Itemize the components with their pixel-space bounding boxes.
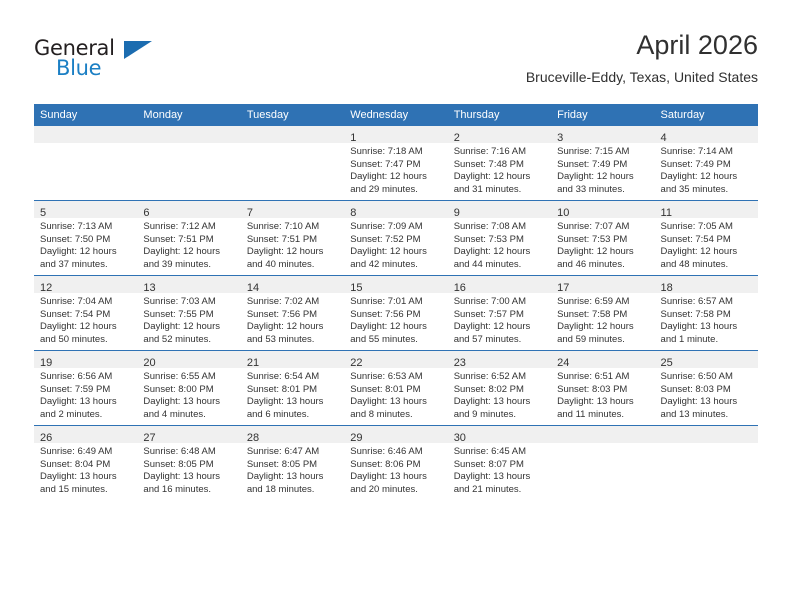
sunrise-text: Sunrise: 6:55 AM <box>143 371 235 384</box>
day-detail-block: Sunrise: 6:49 AMSunset: 8:04 PMDaylight:… <box>34 443 137 496</box>
day-number-band <box>551 426 654 443</box>
sunset-text: Sunset: 8:07 PM <box>454 459 546 472</box>
daylight-text-line2: and 48 minutes. <box>661 259 753 272</box>
day-number-band: 26 <box>34 426 137 443</box>
day-detail-block: Sunrise: 7:14 AMSunset: 7:49 PMDaylight:… <box>655 143 758 196</box>
calendar-day-cell[interactable]: 21Sunrise: 6:54 AMSunset: 8:01 PMDayligh… <box>241 351 344 426</box>
daylight-text-line2: and 33 minutes. <box>557 184 649 197</box>
weekday-header: SundayMondayTuesdayWednesdayThursdayFrid… <box>34 104 758 126</box>
daylight-text-line2: and 35 minutes. <box>661 184 753 197</box>
daylight-text-line1: Daylight: 12 hours <box>661 171 753 184</box>
daylight-text-line1: Daylight: 12 hours <box>350 321 442 334</box>
sunrise-text: Sunrise: 6:54 AM <box>247 371 339 384</box>
sunset-text: Sunset: 7:49 PM <box>661 159 753 172</box>
calendar-day-cell[interactable]: 3Sunrise: 7:15 AMSunset: 7:49 PMDaylight… <box>551 126 654 201</box>
calendar-day-cell[interactable]: 27Sunrise: 6:48 AMSunset: 8:05 PMDayligh… <box>137 426 240 501</box>
sunset-text: Sunset: 7:56 PM <box>350 309 442 322</box>
day-number: 8 <box>350 207 356 219</box>
sunrise-text: Sunrise: 7:15 AM <box>557 146 649 159</box>
daylight-text-line2: and 20 minutes. <box>350 484 442 497</box>
daylight-text-line2: and 8 minutes. <box>350 409 442 422</box>
day-number: 7 <box>247 207 253 219</box>
logo-triangle-icon <box>124 41 152 59</box>
daylight-text-line2: and 15 minutes. <box>40 484 132 497</box>
sunset-text: Sunset: 7:49 PM <box>557 159 649 172</box>
calendar-day-cell[interactable]: 28Sunrise: 6:47 AMSunset: 8:05 PMDayligh… <box>241 426 344 501</box>
day-number: 21 <box>247 357 259 369</box>
sunrise-text: Sunrise: 7:05 AM <box>661 221 753 234</box>
sunrise-text: Sunrise: 6:50 AM <box>661 371 753 384</box>
day-detail-block: Sunrise: 7:13 AMSunset: 7:50 PMDaylight:… <box>34 218 137 271</box>
day-number: 24 <box>557 357 569 369</box>
daylight-text-line2: and 29 minutes. <box>350 184 442 197</box>
calendar-day-cell[interactable]: 10Sunrise: 7:07 AMSunset: 7:53 PMDayligh… <box>551 201 654 276</box>
daylight-text-line1: Daylight: 12 hours <box>557 246 649 259</box>
sunrise-text: Sunrise: 6:56 AM <box>40 371 132 384</box>
day-number-band: 17 <box>551 276 654 293</box>
day-number: 10 <box>557 207 569 219</box>
daylight-text-line1: Daylight: 12 hours <box>454 246 546 259</box>
daylight-text-line1: Daylight: 13 hours <box>661 321 753 334</box>
day-number-band: 5 <box>34 201 137 218</box>
day-number-band: 6 <box>137 201 240 218</box>
sunset-text: Sunset: 8:06 PM <box>350 459 442 472</box>
day-number: 19 <box>40 357 52 369</box>
page-subtitle: Bruceville-Eddy, Texas, United States <box>526 66 758 88</box>
daylight-text-line2: and 18 minutes. <box>247 484 339 497</box>
sunrise-text: Sunrise: 6:48 AM <box>143 446 235 459</box>
sunset-text: Sunset: 7:50 PM <box>40 234 132 247</box>
daylight-text-line1: Daylight: 12 hours <box>557 171 649 184</box>
daylight-text-line2: and 1 minute. <box>661 334 753 347</box>
day-number-band: 27 <box>137 426 240 443</box>
day-detail-block: Sunrise: 6:54 AMSunset: 8:01 PMDaylight:… <box>241 368 344 421</box>
sunset-text: Sunset: 7:54 PM <box>661 234 753 247</box>
sunrise-text: Sunrise: 7:09 AM <box>350 221 442 234</box>
day-detail-block <box>655 443 758 446</box>
day-number: 3 <box>557 132 563 144</box>
day-number-band: 30 <box>448 426 551 443</box>
daylight-text-line1: Daylight: 13 hours <box>143 471 235 484</box>
calendar-day-cell[interactable]: 23Sunrise: 6:52 AMSunset: 8:02 PMDayligh… <box>448 351 551 426</box>
sunrise-text: Sunrise: 7:12 AM <box>143 221 235 234</box>
calendar-day-cell[interactable]: 9Sunrise: 7:08 AMSunset: 7:53 PMDaylight… <box>448 201 551 276</box>
day-detail-block: Sunrise: 6:45 AMSunset: 8:07 PMDaylight:… <box>448 443 551 496</box>
day-detail-block: Sunrise: 7:02 AMSunset: 7:56 PMDaylight:… <box>241 293 344 346</box>
day-number-band: 14 <box>241 276 344 293</box>
day-number: 26 <box>40 432 52 444</box>
calendar-week-row: 12Sunrise: 7:04 AMSunset: 7:54 PMDayligh… <box>34 276 758 351</box>
day-number: 29 <box>350 432 362 444</box>
day-detail-block: Sunrise: 6:47 AMSunset: 8:05 PMDaylight:… <box>241 443 344 496</box>
day-detail-block <box>551 443 654 446</box>
day-number-band: 16 <box>448 276 551 293</box>
daylight-text-line1: Daylight: 12 hours <box>143 246 235 259</box>
day-number-band: 20 <box>137 351 240 368</box>
day-detail-block: Sunrise: 7:05 AMSunset: 7:54 PMDaylight:… <box>655 218 758 271</box>
sunset-text: Sunset: 8:01 PM <box>350 384 442 397</box>
day-number-band <box>241 126 344 143</box>
sunset-text: Sunset: 7:47 PM <box>350 159 442 172</box>
daylight-text-line1: Daylight: 13 hours <box>454 471 546 484</box>
day-number-band: 2 <box>448 126 551 143</box>
day-number: 18 <box>661 282 673 294</box>
calendar-day-cell[interactable]: 1Sunrise: 7:18 AMSunset: 7:47 PMDaylight… <box>344 126 447 201</box>
day-number-band: 4 <box>655 126 758 143</box>
daylight-text-line2: and 21 minutes. <box>454 484 546 497</box>
page-header: General Blue April 2026 Bruceville-Eddy,… <box>0 0 792 100</box>
day-detail-block: Sunrise: 7:09 AMSunset: 7:52 PMDaylight:… <box>344 218 447 271</box>
day-detail-block: Sunrise: 6:59 AMSunset: 7:58 PMDaylight:… <box>551 293 654 346</box>
day-detail-block: Sunrise: 7:18 AMSunset: 7:47 PMDaylight:… <box>344 143 447 196</box>
sunrise-text: Sunrise: 7:01 AM <box>350 296 442 309</box>
weekday-header-monday: Monday <box>137 104 240 126</box>
day-number-band <box>655 426 758 443</box>
weekday-header-sunday: Sunday <box>34 104 137 126</box>
sunrise-text: Sunrise: 7:00 AM <box>454 296 546 309</box>
day-detail-block <box>34 143 137 146</box>
sunset-text: Sunset: 8:05 PM <box>247 459 339 472</box>
calendar-week-row: 19Sunrise: 6:56 AMSunset: 7:59 PMDayligh… <box>34 351 758 426</box>
sunset-text: Sunset: 7:48 PM <box>454 159 546 172</box>
sunset-text: Sunset: 7:56 PM <box>247 309 339 322</box>
day-number-band <box>34 126 137 143</box>
calendar-day-cell[interactable]: 30Sunrise: 6:45 AMSunset: 8:07 PMDayligh… <box>448 426 551 501</box>
daylight-text-line2: and 52 minutes. <box>143 334 235 347</box>
sunrise-text: Sunrise: 7:10 AM <box>247 221 339 234</box>
calendar-day-cell[interactable]: 8Sunrise: 7:09 AMSunset: 7:52 PMDaylight… <box>344 201 447 276</box>
sunrise-text: Sunrise: 6:46 AM <box>350 446 442 459</box>
calendar-day-cell[interactable]: 26Sunrise: 6:49 AMSunset: 8:04 PMDayligh… <box>34 426 137 501</box>
daylight-text-line1: Daylight: 12 hours <box>350 171 442 184</box>
calendar-day-cell[interactable]: 18Sunrise: 6:57 AMSunset: 7:58 PMDayligh… <box>655 276 758 351</box>
daylight-text-line2: and 39 minutes. <box>143 259 235 272</box>
daylight-text-line1: Daylight: 12 hours <box>247 321 339 334</box>
day-number: 12 <box>40 282 52 294</box>
day-number-band: 29 <box>344 426 447 443</box>
day-number: 27 <box>143 432 155 444</box>
day-number-band: 23 <box>448 351 551 368</box>
sunset-text: Sunset: 7:51 PM <box>247 234 339 247</box>
day-number-band: 25 <box>655 351 758 368</box>
day-number-band: 18 <box>655 276 758 293</box>
day-number: 5 <box>40 207 46 219</box>
calendar-day-cell[interactable]: 12Sunrise: 7:04 AMSunset: 7:54 PMDayligh… <box>34 276 137 351</box>
calendar-header-row: SundayMondayTuesdayWednesdayThursdayFrid… <box>34 104 758 126</box>
calendar-day-cell[interactable]: 2Sunrise: 7:16 AMSunset: 7:48 PMDaylight… <box>448 126 551 201</box>
day-number: 1 <box>350 132 356 144</box>
sunrise-text: Sunrise: 7:04 AM <box>40 296 132 309</box>
logo-text-blue: Blue <box>56 56 101 80</box>
sunset-text: Sunset: 7:51 PM <box>143 234 235 247</box>
daylight-text-line2: and 37 minutes. <box>40 259 132 272</box>
calendar-day-cell[interactable]: 6Sunrise: 7:12 AMSunset: 7:51 PMDaylight… <box>137 201 240 276</box>
daylight-text-line2: and 2 minutes. <box>40 409 132 422</box>
day-detail-block: Sunrise: 6:48 AMSunset: 8:05 PMDaylight:… <box>137 443 240 496</box>
daylight-text-line1: Daylight: 13 hours <box>350 396 442 409</box>
day-number: 28 <box>247 432 259 444</box>
calendar-day-cell-empty <box>551 426 654 501</box>
calendar-day-cell[interactable]: 19Sunrise: 6:56 AMSunset: 7:59 PMDayligh… <box>34 351 137 426</box>
sunset-text: Sunset: 7:55 PM <box>143 309 235 322</box>
sunrise-text: Sunrise: 7:13 AM <box>40 221 132 234</box>
day-number-band: 10 <box>551 201 654 218</box>
daylight-text-line2: and 4 minutes. <box>143 409 235 422</box>
sunrise-text: Sunrise: 7:07 AM <box>557 221 649 234</box>
day-number: 15 <box>350 282 362 294</box>
daylight-text-line1: Daylight: 13 hours <box>350 471 442 484</box>
daylight-text-line2: and 42 minutes. <box>350 259 442 272</box>
calendar-body: 1Sunrise: 7:18 AMSunset: 7:47 PMDaylight… <box>34 126 758 500</box>
sunset-text: Sunset: 8:04 PM <box>40 459 132 472</box>
calendar-day-cell[interactable]: 22Sunrise: 6:53 AMSunset: 8:01 PMDayligh… <box>344 351 447 426</box>
day-number-band: 19 <box>34 351 137 368</box>
daylight-text-line2: and 57 minutes. <box>454 334 546 347</box>
day-detail-block: Sunrise: 7:12 AMSunset: 7:51 PMDaylight:… <box>137 218 240 271</box>
day-detail-block: Sunrise: 6:56 AMSunset: 7:59 PMDaylight:… <box>34 368 137 421</box>
daylight-text-line1: Daylight: 13 hours <box>40 396 132 409</box>
day-number-band: 7 <box>241 201 344 218</box>
day-number-band: 11 <box>655 201 758 218</box>
day-number-band: 21 <box>241 351 344 368</box>
daylight-text-line1: Daylight: 12 hours <box>661 246 753 259</box>
day-detail-block <box>137 143 240 146</box>
daylight-text-line1: Daylight: 12 hours <box>40 246 132 259</box>
daylight-text-line1: Daylight: 13 hours <box>247 396 339 409</box>
calendar-week-row: 5Sunrise: 7:13 AMSunset: 7:50 PMDaylight… <box>34 201 758 276</box>
daylight-text-line1: Daylight: 12 hours <box>454 321 546 334</box>
daylight-text-line1: Daylight: 12 hours <box>40 321 132 334</box>
day-detail-block: Sunrise: 7:04 AMSunset: 7:54 PMDaylight:… <box>34 293 137 346</box>
sunrise-text: Sunrise: 6:52 AM <box>454 371 546 384</box>
sunrise-text: Sunrise: 6:53 AM <box>350 371 442 384</box>
day-detail-block: Sunrise: 7:07 AMSunset: 7:53 PMDaylight:… <box>551 218 654 271</box>
weekday-header-saturday: Saturday <box>655 104 758 126</box>
sunset-text: Sunset: 7:53 PM <box>557 234 649 247</box>
day-detail-block: Sunrise: 7:15 AMSunset: 7:49 PMDaylight:… <box>551 143 654 196</box>
day-number: 30 <box>454 432 466 444</box>
day-number-band: 13 <box>137 276 240 293</box>
sunrise-text: Sunrise: 6:49 AM <box>40 446 132 459</box>
daylight-text-line1: Daylight: 12 hours <box>350 246 442 259</box>
daylight-text-line2: and 50 minutes. <box>40 334 132 347</box>
day-number: 4 <box>661 132 667 144</box>
day-number-band: 9 <box>448 201 551 218</box>
sunset-text: Sunset: 8:00 PM <box>143 384 235 397</box>
daylight-text-line2: and 11 minutes. <box>557 409 649 422</box>
sunrise-text: Sunrise: 6:47 AM <box>247 446 339 459</box>
daylight-text-line1: Daylight: 13 hours <box>454 396 546 409</box>
daylight-text-line1: Daylight: 13 hours <box>40 471 132 484</box>
page-title: April 2026 <box>526 28 758 62</box>
sunrise-text: Sunrise: 7:03 AM <box>143 296 235 309</box>
sunset-text: Sunset: 7:53 PM <box>454 234 546 247</box>
sunset-text: Sunset: 8:03 PM <box>557 384 649 397</box>
sunrise-sunset-calendar: SundayMondayTuesdayWednesdayThursdayFrid… <box>34 104 758 500</box>
weekday-header-thursday: Thursday <box>448 104 551 126</box>
day-detail-block: Sunrise: 6:57 AMSunset: 7:58 PMDaylight:… <box>655 293 758 346</box>
sunrise-text: Sunrise: 6:51 AM <box>557 371 649 384</box>
daylight-text-line2: and 46 minutes. <box>557 259 649 272</box>
sunset-text: Sunset: 7:54 PM <box>40 309 132 322</box>
day-detail-block: Sunrise: 6:55 AMSunset: 8:00 PMDaylight:… <box>137 368 240 421</box>
sunrise-text: Sunrise: 6:57 AM <box>661 296 753 309</box>
day-number-band: 24 <box>551 351 654 368</box>
sunset-text: Sunset: 8:01 PM <box>247 384 339 397</box>
calendar-day-cell[interactable]: 17Sunrise: 6:59 AMSunset: 7:58 PMDayligh… <box>551 276 654 351</box>
calendar-day-cell[interactable]: 24Sunrise: 6:51 AMSunset: 8:03 PMDayligh… <box>551 351 654 426</box>
calendar-day-cell-empty <box>34 126 137 201</box>
sunrise-text: Sunrise: 7:14 AM <box>661 146 753 159</box>
daylight-text-line1: Daylight: 13 hours <box>143 396 235 409</box>
weekday-header-wednesday: Wednesday <box>344 104 447 126</box>
daylight-text-line2: and 31 minutes. <box>454 184 546 197</box>
day-number: 20 <box>143 357 155 369</box>
daylight-text-line2: and 59 minutes. <box>557 334 649 347</box>
sunset-text: Sunset: 7:52 PM <box>350 234 442 247</box>
day-number-band: 3 <box>551 126 654 143</box>
day-detail-block: Sunrise: 7:01 AMSunset: 7:56 PMDaylight:… <box>344 293 447 346</box>
sunset-text: Sunset: 7:57 PM <box>454 309 546 322</box>
calendar-day-cell[interactable]: 11Sunrise: 7:05 AMSunset: 7:54 PMDayligh… <box>655 201 758 276</box>
sunrise-text: Sunrise: 7:08 AM <box>454 221 546 234</box>
day-number: 23 <box>454 357 466 369</box>
day-number: 6 <box>143 207 149 219</box>
sunset-text: Sunset: 7:58 PM <box>557 309 649 322</box>
title-block: April 2026 Bruceville-Eddy, Texas, Unite… <box>526 28 758 88</box>
day-detail-block: Sunrise: 6:52 AMSunset: 8:02 PMDaylight:… <box>448 368 551 421</box>
day-number-band <box>137 126 240 143</box>
day-detail-block: Sunrise: 7:08 AMSunset: 7:53 PMDaylight:… <box>448 218 551 271</box>
calendar-day-cell[interactable]: 16Sunrise: 7:00 AMSunset: 7:57 PMDayligh… <box>448 276 551 351</box>
day-number: 11 <box>661 207 672 219</box>
day-number: 14 <box>247 282 259 294</box>
day-detail-block: Sunrise: 7:00 AMSunset: 7:57 PMDaylight:… <box>448 293 551 346</box>
sunset-text: Sunset: 8:03 PM <box>661 384 753 397</box>
day-detail-block <box>241 143 344 146</box>
daylight-text-line1: Daylight: 12 hours <box>454 171 546 184</box>
daylight-text-line2: and 44 minutes. <box>454 259 546 272</box>
day-number-band: 12 <box>34 276 137 293</box>
day-number: 13 <box>143 282 155 294</box>
day-number: 9 <box>454 207 460 219</box>
weekday-header-tuesday: Tuesday <box>241 104 344 126</box>
daylight-text-line2: and 9 minutes. <box>454 409 546 422</box>
calendar-page: General Blue April 2026 Bruceville-Eddy,… <box>0 0 792 612</box>
daylight-text-line2: and 6 minutes. <box>247 409 339 422</box>
calendar-day-cell[interactable]: 25Sunrise: 6:50 AMSunset: 8:03 PMDayligh… <box>655 351 758 426</box>
day-detail-block: Sunrise: 6:46 AMSunset: 8:06 PMDaylight:… <box>344 443 447 496</box>
calendar-week-row: 26Sunrise: 6:49 AMSunset: 8:04 PMDayligh… <box>34 426 758 501</box>
calendar-day-cell[interactable]: 29Sunrise: 6:46 AMSunset: 8:06 PMDayligh… <box>344 426 447 501</box>
calendar-day-cell[interactable]: 14Sunrise: 7:02 AMSunset: 7:56 PMDayligh… <box>241 276 344 351</box>
day-detail-block: Sunrise: 7:03 AMSunset: 7:55 PMDaylight:… <box>137 293 240 346</box>
day-detail-block: Sunrise: 6:50 AMSunset: 8:03 PMDaylight:… <box>655 368 758 421</box>
calendar-day-cell[interactable]: 15Sunrise: 7:01 AMSunset: 7:56 PMDayligh… <box>344 276 447 351</box>
day-detail-block: Sunrise: 6:53 AMSunset: 8:01 PMDaylight:… <box>344 368 447 421</box>
daylight-text-line2: and 40 minutes. <box>247 259 339 272</box>
sunset-text: Sunset: 8:02 PM <box>454 384 546 397</box>
day-number-band: 28 <box>241 426 344 443</box>
day-detail-block: Sunrise: 7:16 AMSunset: 7:48 PMDaylight:… <box>448 143 551 196</box>
daylight-text-line1: Daylight: 12 hours <box>143 321 235 334</box>
day-number: 17 <box>557 282 569 294</box>
day-number: 22 <box>350 357 362 369</box>
day-number-band: 1 <box>344 126 447 143</box>
daylight-text-line1: Daylight: 13 hours <box>247 471 339 484</box>
calendar-day-cell[interactable]: 5Sunrise: 7:13 AMSunset: 7:50 PMDaylight… <box>34 201 137 276</box>
day-detail-block: Sunrise: 6:51 AMSunset: 8:03 PMDaylight:… <box>551 368 654 421</box>
daylight-text-line2: and 55 minutes. <box>350 334 442 347</box>
daylight-text-line1: Daylight: 12 hours <box>557 321 649 334</box>
day-detail-block: Sunrise: 7:10 AMSunset: 7:51 PMDaylight:… <box>241 218 344 271</box>
day-number-band: 22 <box>344 351 447 368</box>
sunrise-text: Sunrise: 7:02 AM <box>247 296 339 309</box>
calendar-day-cell[interactable]: 20Sunrise: 6:55 AMSunset: 8:00 PMDayligh… <box>137 351 240 426</box>
day-number-band: 8 <box>344 201 447 218</box>
calendar-day-cell[interactable]: 7Sunrise: 7:10 AMSunset: 7:51 PMDaylight… <box>241 201 344 276</box>
daylight-text-line2: and 13 minutes. <box>661 409 753 422</box>
sunset-text: Sunset: 7:59 PM <box>40 384 132 397</box>
daylight-text-line1: Daylight: 13 hours <box>557 396 649 409</box>
sunrise-text: Sunrise: 6:45 AM <box>454 446 546 459</box>
sunset-text: Sunset: 8:05 PM <box>143 459 235 472</box>
calendar-day-cell-empty <box>655 426 758 501</box>
calendar-day-cell-empty <box>241 126 344 201</box>
sunrise-text: Sunrise: 6:59 AM <box>557 296 649 309</box>
day-number: 25 <box>661 357 673 369</box>
day-number-band: 15 <box>344 276 447 293</box>
calendar-day-cell[interactable]: 4Sunrise: 7:14 AMSunset: 7:49 PMDaylight… <box>655 126 758 201</box>
calendar-day-cell[interactable]: 13Sunrise: 7:03 AMSunset: 7:55 PMDayligh… <box>137 276 240 351</box>
daylight-text-line1: Daylight: 12 hours <box>247 246 339 259</box>
calendar-day-cell-empty <box>137 126 240 201</box>
sunrise-text: Sunrise: 7:16 AM <box>454 146 546 159</box>
general-blue-logo: General Blue <box>34 36 164 82</box>
calendar-week-row: 1Sunrise: 7:18 AMSunset: 7:47 PMDaylight… <box>34 126 758 201</box>
sunrise-text: Sunrise: 7:18 AM <box>350 146 442 159</box>
sunset-text: Sunset: 7:58 PM <box>661 309 753 322</box>
day-number: 2 <box>454 132 460 144</box>
daylight-text-line2: and 53 minutes. <box>247 334 339 347</box>
daylight-text-line2: and 16 minutes. <box>143 484 235 497</box>
day-number: 16 <box>454 282 466 294</box>
daylight-text-line1: Daylight: 13 hours <box>661 396 753 409</box>
weekday-header-friday: Friday <box>551 104 654 126</box>
